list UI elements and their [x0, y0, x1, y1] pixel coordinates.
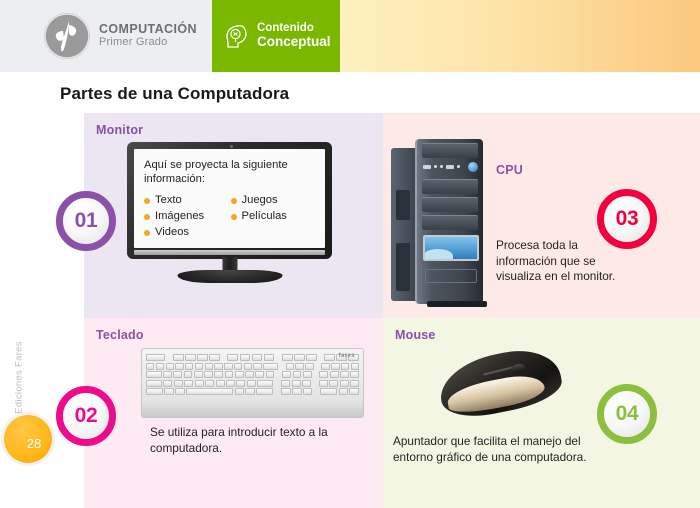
- key[interactable]: [281, 388, 291, 395]
- mic-jack-icon: [440, 165, 443, 168]
- page-number-badge: 28: [4, 415, 52, 463]
- power-button[interactable]: [468, 162, 478, 172]
- list-item: Videos: [144, 225, 231, 241]
- key[interactable]: [349, 388, 359, 395]
- keyboard-illustration: fares: [141, 348, 364, 418]
- screen-list-left: Texto Imágenes Videos: [144, 193, 231, 241]
- key[interactable]: [146, 388, 163, 395]
- mouse-title: Mouse: [395, 328, 436, 342]
- cpu-front-panel: [415, 139, 483, 304]
- badge-01: 01: [56, 191, 116, 251]
- key[interactable]: [174, 380, 183, 387]
- key[interactable]: [293, 371, 302, 378]
- key[interactable]: [163, 371, 172, 378]
- list-item: Imágenes: [144, 209, 231, 225]
- key[interactable]: [303, 371, 312, 378]
- badge-02: 02: [56, 386, 116, 446]
- key[interactable]: [324, 354, 335, 361]
- monitor-bottom-strip: [134, 250, 325, 255]
- key[interactable]: [331, 363, 339, 370]
- key[interactable]: [166, 363, 174, 370]
- led-icon: [457, 165, 460, 168]
- teclado-description: Se utiliza para introducir texto a la co…: [150, 425, 350, 456]
- keyboard-row: [146, 371, 359, 378]
- cpu-drive-bay: [422, 179, 478, 194]
- screen-list-right: Juegos Películas: [231, 193, 318, 241]
- key[interactable]: [245, 388, 255, 395]
- key[interactable]: [320, 388, 337, 395]
- cpu-title: CPU: [496, 163, 523, 177]
- cpu-lower-slot: [425, 269, 477, 283]
- key[interactable]: [257, 380, 273, 387]
- key[interactable]: [197, 354, 208, 361]
- key[interactable]: [263, 363, 278, 370]
- key[interactable]: [292, 380, 301, 387]
- slide-page: COMPUTACIÓN Primer Grado Contenido Conce…: [0, 0, 700, 508]
- key[interactable]: [329, 380, 338, 387]
- key[interactable]: [319, 380, 328, 387]
- spacebar-key[interactable]: [186, 388, 233, 395]
- section-text: Contenido Conceptual: [257, 23, 331, 49]
- monitor-stand-base: [177, 270, 282, 283]
- key[interactable]: [173, 371, 182, 378]
- key[interactable]: [294, 354, 305, 361]
- page-title: Partes de una Computadora: [60, 84, 289, 104]
- usb-port-icon: [423, 165, 431, 169]
- key[interactable]: [302, 380, 311, 387]
- key[interactable]: [339, 388, 349, 395]
- key[interactable]: [184, 371, 193, 378]
- key[interactable]: [205, 380, 214, 387]
- monitor-illustration: Aquí se proyecta la siguiente informació…: [127, 142, 332, 277]
- quadrant-teclado: Teclado fares: [84, 318, 383, 508]
- key[interactable]: [156, 363, 164, 370]
- key[interactable]: [340, 371, 349, 378]
- cpu-lower-vent: [396, 243, 410, 291]
- keyboard-brand-label: fares: [339, 353, 355, 359]
- mouse-description: Apuntador que facilita el manejo del ent…: [393, 434, 608, 465]
- key[interactable]: [195, 380, 204, 387]
- key[interactable]: [256, 388, 273, 395]
- key[interactable]: [146, 354, 165, 361]
- header-gradient-band: [340, 0, 700, 72]
- keyboard-row: [146, 388, 359, 395]
- key[interactable]: [282, 371, 291, 378]
- key[interactable]: [264, 354, 275, 361]
- key[interactable]: [319, 371, 328, 378]
- key[interactable]: [225, 371, 234, 378]
- cpu-base-vent: [427, 301, 487, 307]
- key[interactable]: [321, 363, 329, 370]
- cpu-tower-illustration: [391, 139, 491, 304]
- lcd-graphic: [423, 249, 453, 261]
- key[interactable]: [209, 354, 220, 361]
- head-brain-icon: [222, 22, 250, 50]
- key[interactable]: [227, 354, 238, 361]
- key[interactable]: [235, 388, 245, 395]
- section-badge: Contenido Conceptual: [212, 0, 340, 72]
- key[interactable]: [244, 363, 252, 370]
- cpu-fan-vent: [396, 190, 410, 220]
- key[interactable]: [146, 380, 162, 387]
- badge-number: 03: [616, 207, 639, 231]
- key[interactable]: [205, 363, 213, 370]
- monitor-title: Monitor: [96, 123, 143, 137]
- key[interactable]: [164, 388, 174, 395]
- list-item-label: Juegos: [242, 193, 278, 209]
- key[interactable]: [214, 371, 223, 378]
- key[interactable]: [253, 363, 261, 370]
- cpu-port-row: [423, 161, 478, 172]
- key[interactable]: [240, 354, 251, 361]
- list-item: Texto: [144, 193, 231, 209]
- bullet-icon: [231, 214, 237, 220]
- key[interactable]: [282, 354, 293, 361]
- leaf-logo-icon: [44, 13, 90, 59]
- page-number-value: 28: [15, 428, 41, 451]
- key[interactable]: [351, 363, 359, 370]
- key[interactable]: [146, 371, 162, 378]
- key[interactable]: [194, 371, 203, 378]
- key[interactable]: [281, 380, 290, 387]
- brand-block: COMPUTACIÓN Primer Grado: [0, 0, 212, 72]
- list-item-label: Imágenes: [155, 209, 204, 225]
- key[interactable]: [350, 380, 359, 387]
- key[interactable]: [184, 380, 193, 387]
- list-item-label: Películas: [242, 209, 287, 225]
- key[interactable]: [224, 363, 232, 370]
- key[interactable]: [245, 371, 254, 378]
- key[interactable]: [247, 380, 256, 387]
- key[interactable]: [185, 363, 193, 370]
- brand-text: COMPUTACIÓN Primer Grado: [99, 23, 197, 49]
- cpu-display-panel: [423, 235, 479, 261]
- brand-line1: COMPUTACIÓN: [99, 23, 197, 36]
- key[interactable]: [292, 388, 302, 395]
- keyboard-row: [146, 363, 359, 370]
- bullet-icon: [144, 198, 150, 204]
- teclado-title: Teclado: [96, 328, 144, 342]
- badge-number: 02: [75, 404, 98, 428]
- key[interactable]: [214, 363, 222, 370]
- key[interactable]: [255, 371, 264, 378]
- list-item-label: Texto: [155, 193, 182, 209]
- key[interactable]: [340, 380, 349, 387]
- key[interactable]: [185, 354, 196, 361]
- mouse-illustration: [439, 344, 564, 422]
- key[interactable]: [235, 371, 244, 378]
- cpu-description: Procesa toda la información que se visua…: [496, 238, 621, 285]
- cpu-top-bay: [422, 143, 478, 158]
- key[interactable]: [306, 354, 317, 361]
- bullet-icon: [144, 230, 150, 236]
- key[interactable]: [252, 354, 263, 361]
- key[interactable]: [163, 380, 172, 387]
- list-item-label: Videos: [155, 225, 189, 241]
- quadrant-grid: Monitor Aquí se proyecta la siguiente in…: [84, 113, 700, 508]
- brand-line2: Primer Grado: [99, 37, 197, 49]
- publisher-label: Ediciones Fares: [14, 333, 25, 423]
- badge-number: 01: [75, 209, 98, 233]
- key[interactable]: [204, 371, 213, 378]
- webcam-icon: [230, 145, 233, 148]
- key[interactable]: [175, 363, 183, 370]
- cpu-drive-bay: [422, 215, 478, 230]
- badge-number: 04: [616, 402, 639, 426]
- section-line2: Conceptual: [257, 35, 331, 49]
- bullet-icon: [231, 198, 237, 204]
- keyboard-row: [146, 380, 359, 387]
- bullet-icon: [144, 214, 150, 220]
- key[interactable]: [350, 371, 359, 378]
- monitor-bezel: Aquí se proyecta la siguiente informació…: [127, 142, 332, 259]
- key[interactable]: [226, 380, 235, 387]
- key[interactable]: [295, 363, 303, 370]
- audio-jack-icon: [434, 165, 437, 168]
- list-item: Películas: [231, 209, 318, 225]
- monitor-screen: Aquí se proyecta la siguiente informació…: [134, 149, 325, 248]
- key[interactable]: [146, 363, 154, 370]
- key[interactable]: [234, 363, 242, 370]
- key[interactable]: [286, 363, 294, 370]
- cpu-drive-bay: [422, 197, 478, 212]
- leaf-logo-glyph: [44, 13, 90, 59]
- usb-port-icon: [446, 165, 454, 169]
- key[interactable]: [266, 371, 275, 378]
- keyboard-row: [146, 354, 359, 361]
- header-bar: COMPUTACIÓN Primer Grado Contenido Conce…: [0, 0, 700, 72]
- key[interactable]: [341, 363, 349, 370]
- badge-03: 03: [597, 189, 657, 249]
- cpu-side-panel: [391, 148, 417, 301]
- key[interactable]: [216, 380, 225, 387]
- key[interactable]: [305, 363, 313, 370]
- list-item: Juegos: [231, 193, 318, 209]
- key[interactable]: [175, 388, 185, 395]
- screen-lists: Texto Imágenes Videos Juegos Películas: [144, 193, 317, 241]
- badge-04: 04: [597, 384, 657, 444]
- key[interactable]: [173, 354, 184, 361]
- key[interactable]: [195, 363, 203, 370]
- key[interactable]: [303, 388, 313, 395]
- quadrant-monitor: Monitor Aquí se proyecta la siguiente in…: [84, 113, 383, 318]
- key[interactable]: [330, 371, 339, 378]
- key[interactable]: [236, 380, 245, 387]
- screen-heading: Aquí se proyecta la siguiente informació…: [144, 158, 317, 186]
